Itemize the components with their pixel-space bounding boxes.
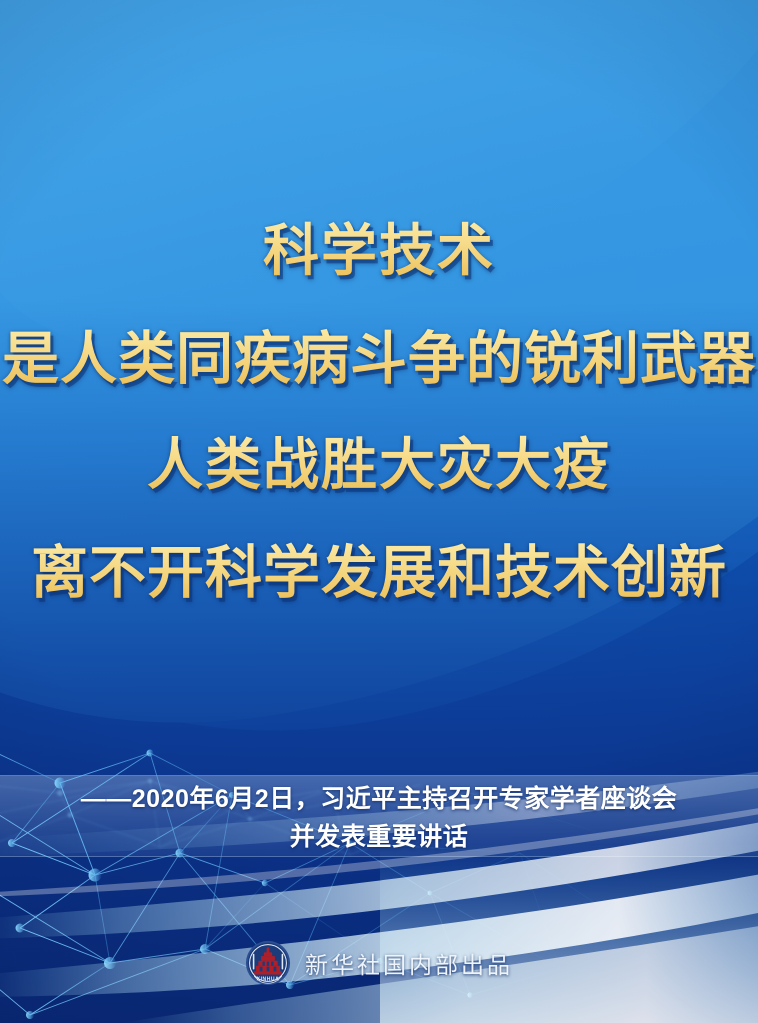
caption-line-2: 并发表重要讲话 <box>0 818 758 856</box>
headline-line-4: 离不开科学发展和技术创新 <box>0 519 758 626</box>
footer-text: 新华社国内部出品 <box>305 946 513 980</box>
xinhua-emblem-icon: XINHUA <box>245 940 291 986</box>
footer: XINHUA 新华社国内部出品 <box>0 940 758 986</box>
poster-canvas: 科学技术 是人类同疾病斗争的锐利武器 人类战胜大灾大疫 离不开科学发展和技术创新… <box>0 0 758 1023</box>
headline-line-2: 是人类同疾病斗争的锐利武器 <box>0 305 758 412</box>
headline: 科学技术 是人类同疾病斗争的锐利武器 人类战胜大灾大疫 离不开科学发展和技术创新 <box>0 198 758 626</box>
xinhua-wordmark: XINHUA <box>257 976 280 982</box>
caption: ——2020年6月2日，习近平主持召开专家学者座谈会 并发表重要讲话 <box>0 780 758 856</box>
headline-line-3: 人类战胜大灾大疫 <box>0 412 758 519</box>
headline-line-1: 科学技术 <box>0 198 758 305</box>
caption-line-1: ——2020年6月2日，习近平主持召开专家学者座谈会 <box>0 780 758 818</box>
